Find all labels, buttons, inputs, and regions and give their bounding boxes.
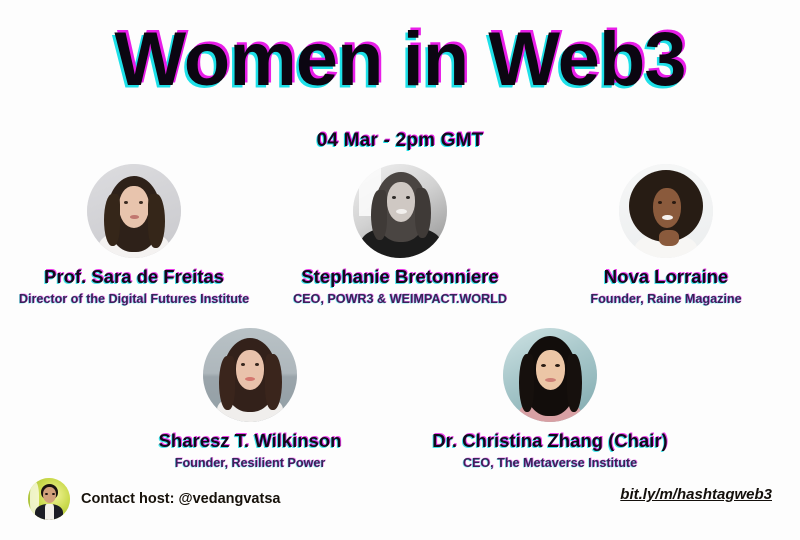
speaker-name: Stephanie Bretonniere (267, 266, 533, 288)
avatar-nova-lorraine (619, 164, 713, 258)
speaker-card: Nova Lorraine Founder, Raine Magazine (533, 164, 799, 308)
page-title: Women in Web3 (114, 18, 685, 102)
avatar-christina-zhang (503, 328, 597, 422)
avatar-sharesz-t-wilkinson (203, 328, 297, 422)
speaker-card: Sharesz T. Wilkinson Founder, Resilient … (100, 328, 400, 472)
contact-host-block: Contact host: @vedangvatsa (28, 478, 280, 520)
speaker-role: Founder, Resilient Power (100, 454, 400, 472)
host-avatar (28, 478, 70, 520)
speaker-name: Prof. Sara de Freitas (1, 266, 267, 288)
speaker-name: Dr. Christina Zhang (Chair) (400, 430, 700, 452)
speaker-role: CEO, The Metaverse Institute (400, 454, 700, 472)
event-date-time: 04 Mar - 2pm GMT (0, 130, 800, 152)
speaker-card: Dr. Christina Zhang (Chair) CEO, The Met… (400, 328, 700, 472)
title-container: Women in Web3 (0, 18, 800, 102)
speaker-name: Nova Lorraine (533, 266, 799, 288)
speaker-row-two: Sharesz T. Wilkinson Founder, Resilient … (0, 328, 800, 472)
poster-canvas: Women in Web3 04 Mar - 2pm GMT Prof. Sar… (0, 0, 800, 540)
speaker-name: Sharesz T. Wilkinson (100, 430, 400, 452)
speaker-role: Director of the Digital Futures Institut… (1, 290, 267, 308)
speaker-role: CEO, POWR3 & WEIMPACT.WORLD (267, 290, 533, 308)
avatar-stephanie-bretonniere (353, 164, 447, 258)
speaker-role: Founder, Raine Magazine (533, 290, 799, 308)
speaker-card: Prof. Sara de Freitas Director of the Di… (1, 164, 267, 308)
speaker-card: Stephanie Bretonniere CEO, POWR3 & WEIMP… (267, 164, 533, 308)
contact-host-label: Contact host: @vedangvatsa (81, 491, 280, 507)
avatar-sara-de-freitas (87, 164, 181, 258)
event-link[interactable]: bit.ly/m/hashtagweb3 (620, 486, 772, 503)
speaker-row-one: Prof. Sara de Freitas Director of the Di… (0, 164, 800, 308)
